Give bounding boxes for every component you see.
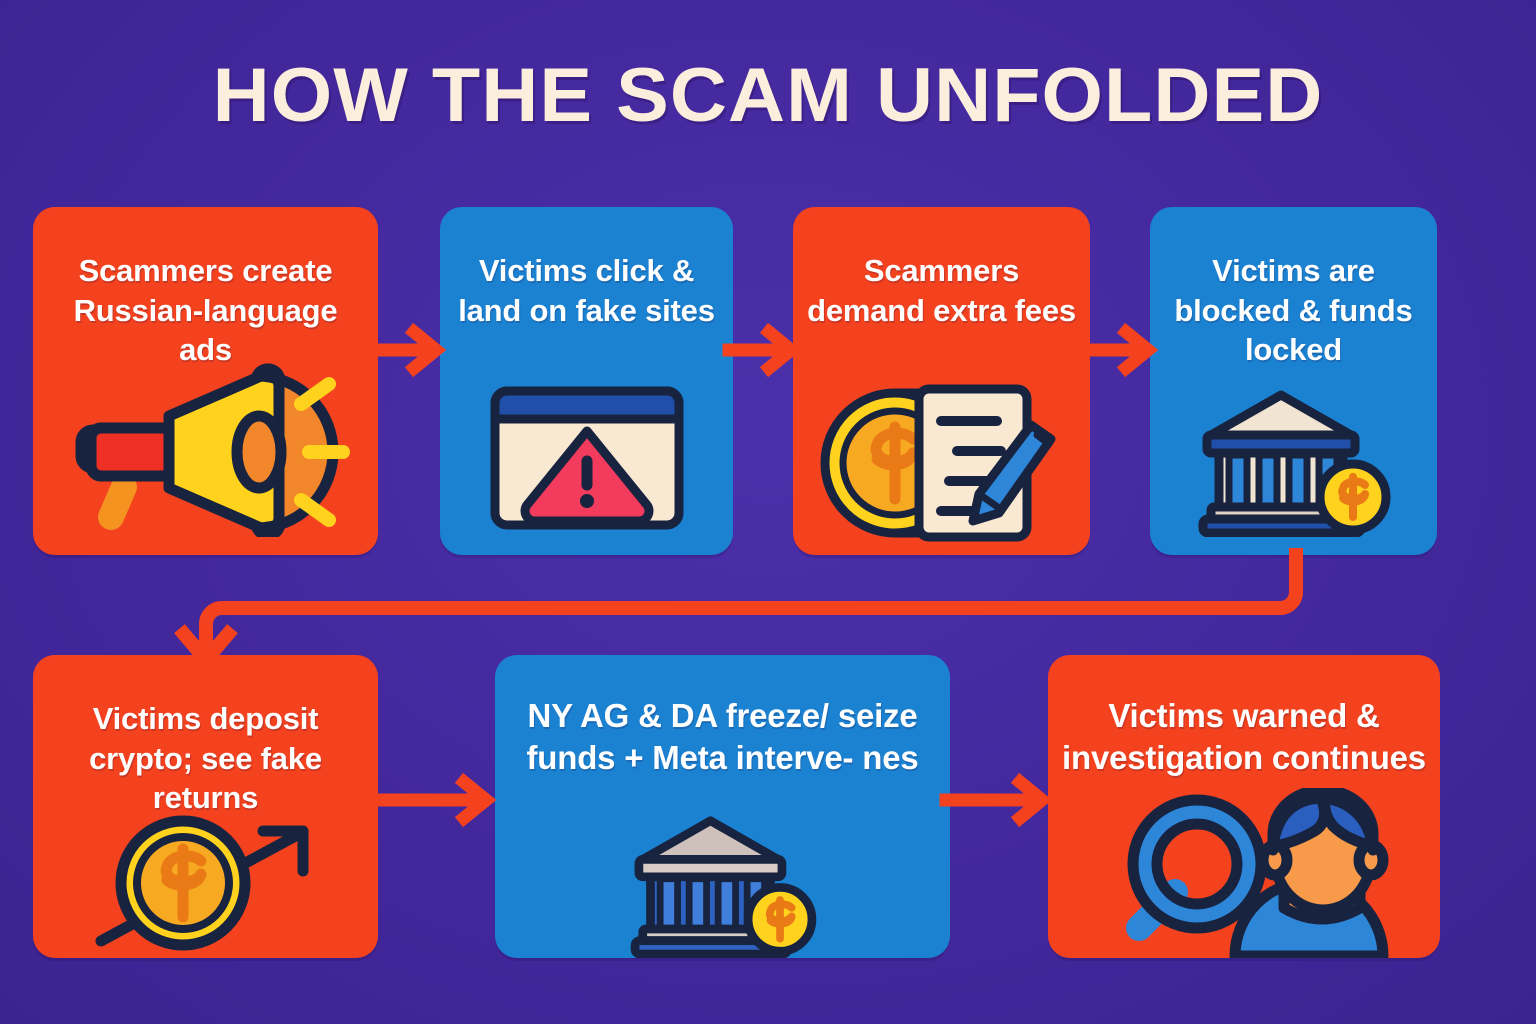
step-card-3-label: Scammers demand extra fees: [807, 251, 1076, 330]
arrow-step5-to-step6: [374, 770, 499, 830]
page-title: HOW THE SCAM UNFOLDED: [0, 58, 1536, 134]
bank-coin-icon: [495, 813, 950, 958]
coin-invoice-pen-icon: [793, 368, 1090, 543]
step-card-4-label: Victims are blocked & funds locked: [1164, 251, 1423, 370]
bank-coin-icon: [1150, 377, 1437, 537]
step-card-6-label: NY AG & DA freeze/ seize funds + Meta in…: [509, 695, 936, 779]
arrow-step3-to-step4: [1086, 320, 1158, 380]
browser-warning-icon: [440, 373, 733, 533]
arrow-step2-to-step3: [729, 320, 801, 380]
step-card-4[interactable]: Victims are blocked & funds locked: [1150, 207, 1437, 555]
megaphone-icon: [33, 347, 378, 537]
step-card-5-label: Victims deposit crypto; see fake returns: [47, 699, 364, 818]
step-card-6[interactable]: NY AG & DA freeze/ seize funds + Meta in…: [495, 655, 950, 958]
step-card-5[interactable]: Victims deposit crypto; see fake returns: [33, 655, 378, 958]
magnifier-person-icon: [1048, 788, 1440, 958]
arrow-step6-to-step7: [946, 770, 1054, 830]
arrow-step4-to-step5: [170, 548, 1330, 673]
step-card-1[interactable]: Scammers create Russian-language ads: [33, 207, 378, 555]
arrow-step1-to-step2: [374, 320, 446, 380]
step-card-7-label: Victims warned & investigation continues: [1062, 695, 1426, 779]
step-card-2-label: Victims click & land on fake sites: [454, 251, 719, 330]
step-card-3[interactable]: Scammers demand extra fees: [793, 207, 1090, 555]
step-card-7[interactable]: Victims warned & investigation continues: [1048, 655, 1440, 958]
infographic-canvas: HOW THE SCAM UNFOLDED Scammers create Ru…: [0, 0, 1536, 1024]
coin-rising-arrow-icon: [33, 806, 378, 956]
step-card-2[interactable]: Victims click & land on fake sites: [440, 207, 733, 555]
